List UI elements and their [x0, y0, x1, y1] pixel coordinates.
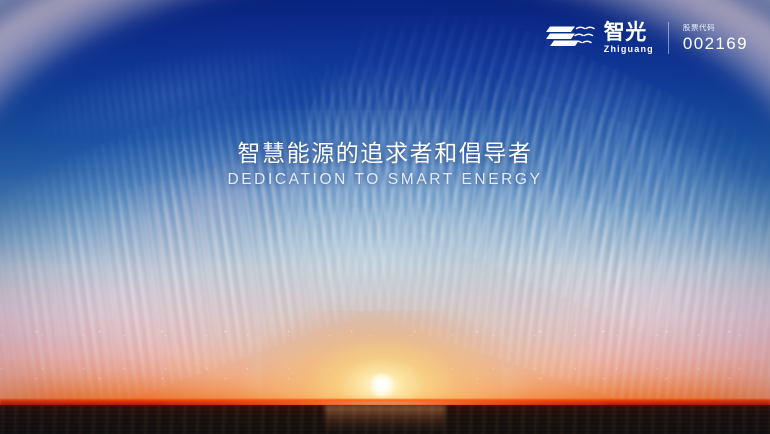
- stock-code-value: 002169: [683, 35, 748, 52]
- brand-banner: 智慧能源的追求者和倡导者 DEDICATION TO SMART ENERGY: [0, 0, 770, 434]
- stock-code-block: 股票代码 002169: [683, 24, 748, 52]
- stock-code-label: 股票代码: [683, 24, 715, 32]
- logo-name-chinese: 智光: [604, 22, 647, 43]
- logo-wordmark: 智光 Zhiguang: [604, 22, 654, 54]
- brand-lockup[interactable]: 智光 Zhiguang 股票代码 002169: [545, 22, 748, 54]
- sky-gradient: [0, 0, 770, 434]
- foreground-ground: [0, 405, 770, 434]
- company-logo[interactable]: 智光 Zhiguang: [545, 22, 654, 54]
- logo-name-pinyin: Zhiguang: [604, 45, 654, 54]
- zhiguang-logo-icon: [545, 23, 597, 53]
- brand-divider: [668, 22, 669, 54]
- sun-reflection: [325, 405, 445, 434]
